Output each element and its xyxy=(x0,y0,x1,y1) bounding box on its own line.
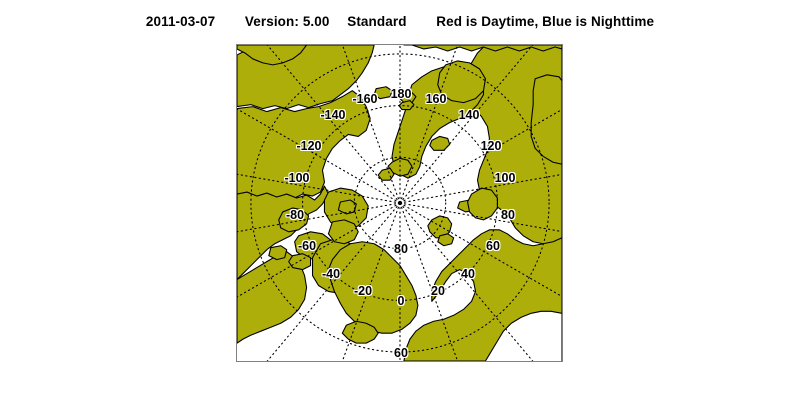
land-wrangel-island xyxy=(374,87,392,99)
land-svalbard-islet xyxy=(438,234,454,246)
land-small-island-c xyxy=(338,200,356,214)
land-small-island-a xyxy=(289,254,311,270)
header-product: Standard xyxy=(347,14,406,29)
map-canvas xyxy=(237,45,562,361)
land-small-island-b xyxy=(269,246,287,260)
header-legend-note: Red is Daytime, Blue is Nighttime xyxy=(436,14,654,29)
pole-marker xyxy=(398,201,402,205)
land-devon-island xyxy=(328,220,358,244)
polar-map: 180 160 140 120 100 80 60 40 20 0 -20 -4… xyxy=(236,44,563,362)
header-version: Version: 5.00 xyxy=(245,14,330,29)
page-title: 2011-03-07 Version: 5.00 Standard Red is… xyxy=(0,14,800,29)
header-date: 2011-03-07 xyxy=(146,14,215,29)
